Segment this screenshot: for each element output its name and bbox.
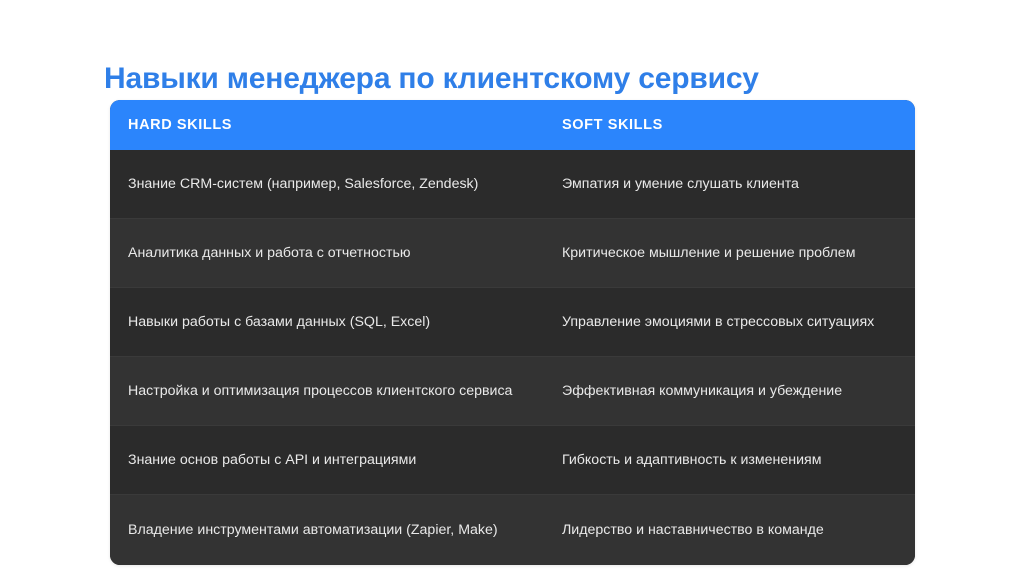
cell-soft-skill: Гибкость и адаптивность к изменениям [550, 440, 915, 480]
cell-hard-skill: Знание основ работы с API и интеграциями [110, 440, 550, 480]
cell-soft-skill: Лидерство и наставничество в команде [550, 510, 915, 550]
cell-soft-skill: Управление эмоциями в стрессовых ситуаци… [550, 302, 915, 342]
table-header-row: HARD SKILLS SOFT SKILLS [110, 100, 915, 150]
page-root: Навыки менеджера по клиентскому сервису … [0, 0, 1024, 586]
cell-hard-skill: Знание CRM-систем (например, Salesforce,… [110, 164, 550, 204]
cell-hard-skill: Аналитика данных и работа с отчетностью [110, 233, 550, 273]
table-row: Аналитика данных и работа с отчетностью … [110, 219, 915, 288]
cell-hard-skill: Владение инструментами автоматизации (Za… [110, 510, 550, 550]
skills-table: HARD SKILLS SOFT SKILLS Знание CRM-систе… [110, 100, 915, 565]
table-row: Знание основ работы с API и интеграциями… [110, 426, 915, 495]
column-header-soft-skills: SOFT SKILLS [550, 117, 915, 133]
table-row: Знание CRM-систем (например, Salesforce,… [110, 150, 915, 219]
cell-hard-skill: Настройка и оптимизация процессов клиент… [110, 371, 550, 411]
table-row: Навыки работы с базами данных (SQL, Exce… [110, 288, 915, 357]
cell-soft-skill: Эффективная коммуникация и убеждение [550, 371, 915, 411]
cell-soft-skill: Критическое мышление и решение проблем [550, 233, 915, 273]
table-row: Владение инструментами автоматизации (Za… [110, 495, 915, 565]
page-title: Навыки менеджера по клиентскому сервису [104, 60, 944, 98]
table-row: Настройка и оптимизация процессов клиент… [110, 357, 915, 426]
column-header-hard-skills: HARD SKILLS [110, 117, 550, 133]
cell-hard-skill: Навыки работы с базами данных (SQL, Exce… [110, 302, 550, 342]
cell-soft-skill: Эмпатия и умение слушать клиента [550, 164, 915, 204]
